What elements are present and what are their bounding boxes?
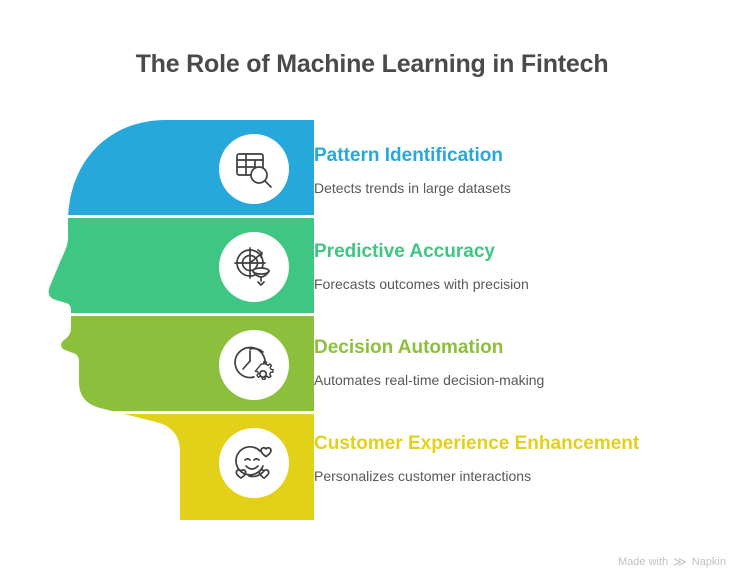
watermark-prefix: Made with <box>618 556 668 568</box>
watermark-brand: Napkin <box>692 556 726 568</box>
icon-badge-customer-experience <box>219 428 289 498</box>
icon-badge-decision-automation <box>219 330 289 400</box>
napkin-logo-icon: ≫ <box>673 555 687 568</box>
smiling-face-hearts-icon <box>233 442 275 484</box>
icon-badge-pattern-identification <box>219 134 289 204</box>
icon-badge-predictive-accuracy <box>219 232 289 302</box>
clock-gear-icon <box>233 344 275 386</box>
section-description: Forecasts outcomes with precision <box>314 275 529 293</box>
section-decision-automation: Decision Automation Automates real-time … <box>314 336 544 389</box>
section-predictive-accuracy: Predictive Accuracy Forecasts outcomes w… <box>314 240 529 293</box>
section-heading: Decision Automation <box>314 336 544 360</box>
section-heading: Pattern Identification <box>314 144 511 168</box>
napkin-watermark: Made with ≫ Napkin <box>618 555 726 568</box>
section-heading: Predictive Accuracy <box>314 240 529 264</box>
section-customer-experience: Customer Experience Enhancement Personal… <box>314 432 639 485</box>
infographic-slide: The Role of Machine Learning in Fintech <box>0 0 744 588</box>
table-search-icon <box>233 148 275 190</box>
section-description: Automates real-time decision-making <box>314 371 544 389</box>
section-pattern-identification: Pattern Identification Detects trends in… <box>314 144 511 197</box>
target-funnel-icon <box>233 246 275 288</box>
section-heading: Customer Experience Enhancement <box>314 432 639 456</box>
page-title: The Role of Machine Learning in Fintech <box>0 50 744 79</box>
section-description: Detects trends in large datasets <box>314 179 511 197</box>
section-description: Personalizes customer interactions <box>314 467 639 485</box>
